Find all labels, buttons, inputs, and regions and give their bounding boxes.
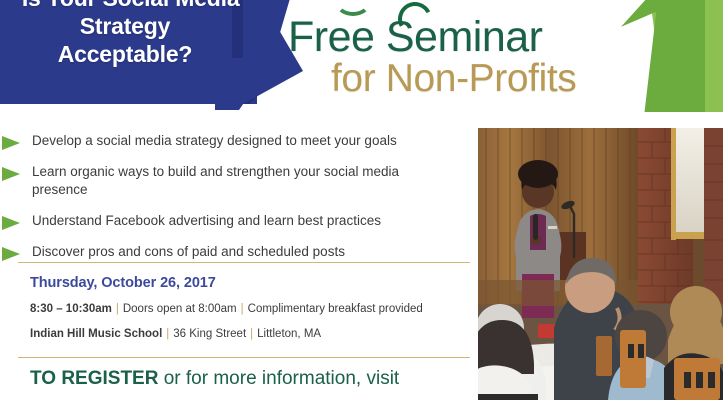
- divider-top: [18, 262, 470, 263]
- content-column: Develop a social media strategy designed…: [0, 112, 470, 400]
- list-item: Understand Facebook advertising and lear…: [0, 212, 460, 230]
- separator-pipe: |: [162, 328, 173, 340]
- ribbon-title: “Is Your Social Media Strategy Acceptabl…: [0, 0, 250, 68]
- separator-pipe: |: [112, 303, 123, 315]
- header-band: “Is Your Social Media Strategy Acceptabl…: [0, 0, 723, 112]
- list-item: Develop a social media strategy designed…: [0, 132, 460, 150]
- event-date: Thursday, October 26, 2017: [30, 275, 470, 291]
- ribbon-title-line2: Acceptable?: [0, 40, 250, 68]
- page-subtitle: for Non-Profits: [331, 58, 576, 100]
- page-title: Free Seminar: [288, 15, 542, 59]
- seminar-photo: [478, 128, 723, 400]
- triangle-right-icon: [2, 167, 20, 181]
- event-doors: Doors open at 8:00am: [123, 303, 237, 315]
- triangle-right-icon: [2, 136, 20, 150]
- list-item-label: Understand Facebook advertising and lear…: [32, 212, 381, 230]
- list-item: Learn organic ways to build and strength…: [0, 163, 460, 199]
- event-time-line: 8:30 – 10:30am|Doors open at 8:00am|Comp…: [30, 302, 470, 317]
- register-rest: or for more information, visit: [158, 368, 399, 389]
- green-ribbon-arrow-shape: [621, 0, 705, 112]
- event-city: Littleton, MA: [257, 328, 321, 340]
- event-time: 8:30 – 10:30am: [30, 303, 112, 315]
- divider-bottom: [18, 357, 470, 358]
- event-details: Thursday, October 26, 2017 8:30 – 10:30a…: [30, 275, 470, 352]
- list-item-label: Learn organic ways to build and strength…: [32, 163, 432, 199]
- event-venue-line: Indian Hill Music School|36 King Street|…: [30, 327, 470, 342]
- triangle-right-icon: [2, 216, 20, 230]
- separator-pipe: |: [246, 328, 257, 340]
- triangle-right-icon: [2, 247, 20, 261]
- list-item: Discover pros and cons of paid and sched…: [0, 243, 460, 261]
- event-street: 36 King Street: [173, 328, 246, 340]
- benefits-list: Develop a social media strategy designed…: [0, 132, 460, 274]
- list-item-label: Discover pros and cons of paid and sched…: [32, 243, 345, 261]
- register-callout: TO REGISTER or for more information, vis…: [30, 367, 399, 391]
- register-label: TO REGISTER: [30, 368, 158, 389]
- list-item-label: Develop a social media strategy designed…: [32, 132, 397, 150]
- ribbon-title-line1: “Is Your Social Media Strategy: [0, 0, 250, 40]
- separator-pipe: |: [237, 303, 248, 315]
- event-venue: Indian Hill Music School: [30, 328, 162, 340]
- event-breakfast: Complimentary breakfast provided: [248, 303, 423, 315]
